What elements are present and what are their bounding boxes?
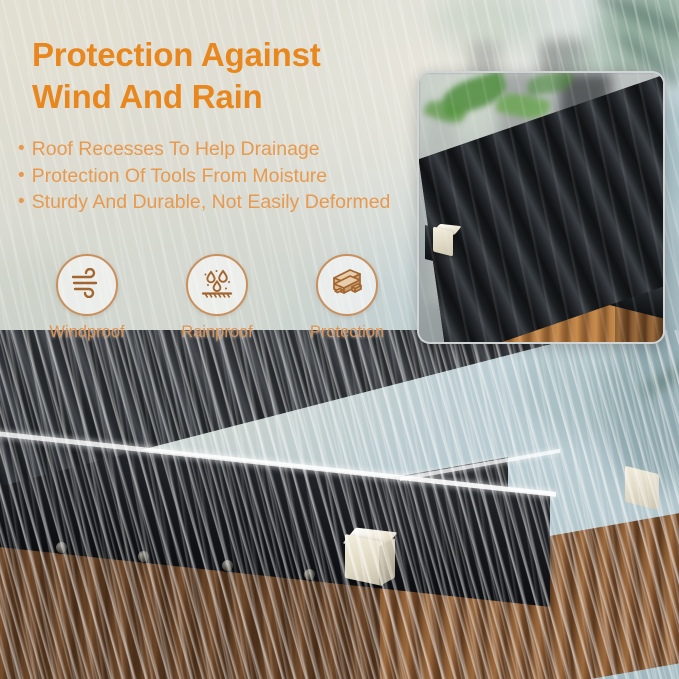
feature-protection: Protection <box>282 254 412 342</box>
roof-corner-bracket <box>345 530 405 592</box>
headline-line-1: Protection Against <box>32 34 424 76</box>
feature-icon-circle <box>316 254 378 316</box>
feature-windproof: Windproof <box>22 254 152 342</box>
bullet-marker: • <box>18 190 25 214</box>
bracket-front-face <box>345 534 383 586</box>
roof-sheen <box>0 330 679 520</box>
list-item: • Roof Recesses To Help Drainage <box>18 137 418 163</box>
bullet-marker: • <box>18 137 25 161</box>
feature-icon-circle <box>56 254 118 316</box>
feature-label: Rainproof <box>181 323 253 342</box>
feature-label: Windproof <box>49 323 124 342</box>
bullet-text: Roof Recesses To Help Drainage <box>32 137 418 163</box>
siding-bolt <box>56 542 67 553</box>
product-feature-image: Protection Against Wind And Rain • Roof … <box>0 0 679 679</box>
bracket-side-face <box>379 538 395 587</box>
siding-bolt <box>138 551 149 562</box>
shed-roof-in-rain-photo <box>0 330 679 679</box>
page-title: Protection Against Wind And Rain <box>32 34 424 118</box>
feature-label: Protection <box>310 323 384 342</box>
roof-panel-area <box>0 330 679 580</box>
feature-rainproof: Rainproof <box>152 254 282 342</box>
lumber-stack-icon <box>330 267 364 304</box>
roof-edge-detail-photo <box>417 71 665 344</box>
bullet-marker: • <box>18 164 25 188</box>
feature-icon-circle <box>186 254 248 316</box>
inset-rain-overlay <box>419 73 663 342</box>
bullet-text: Sturdy And Durable, Not Easily Deformed <box>32 190 418 216</box>
siding-bolt <box>222 560 233 571</box>
raindrops-icon <box>200 267 234 304</box>
foliage-blob <box>430 0 550 50</box>
feature-bullet-list: • Roof Recesses To Help Drainage • Prote… <box>18 137 418 217</box>
list-item: • Sturdy And Durable, Not Easily Deforme… <box>18 190 418 216</box>
bullet-text: Protection Of Tools From Moisture <box>32 164 418 190</box>
siding-bolt <box>304 569 315 580</box>
roof-corner-bracket-far <box>625 470 659 506</box>
ribbed-roof-panel <box>0 330 679 520</box>
headline-line-2: Wind And Rain <box>32 76 424 118</box>
wind-icon <box>70 268 104 303</box>
feature-icon-row: Windproof <box>22 254 412 342</box>
bracket-front-face <box>625 466 659 510</box>
list-item: • Protection Of Tools From Moisture <box>18 164 418 190</box>
